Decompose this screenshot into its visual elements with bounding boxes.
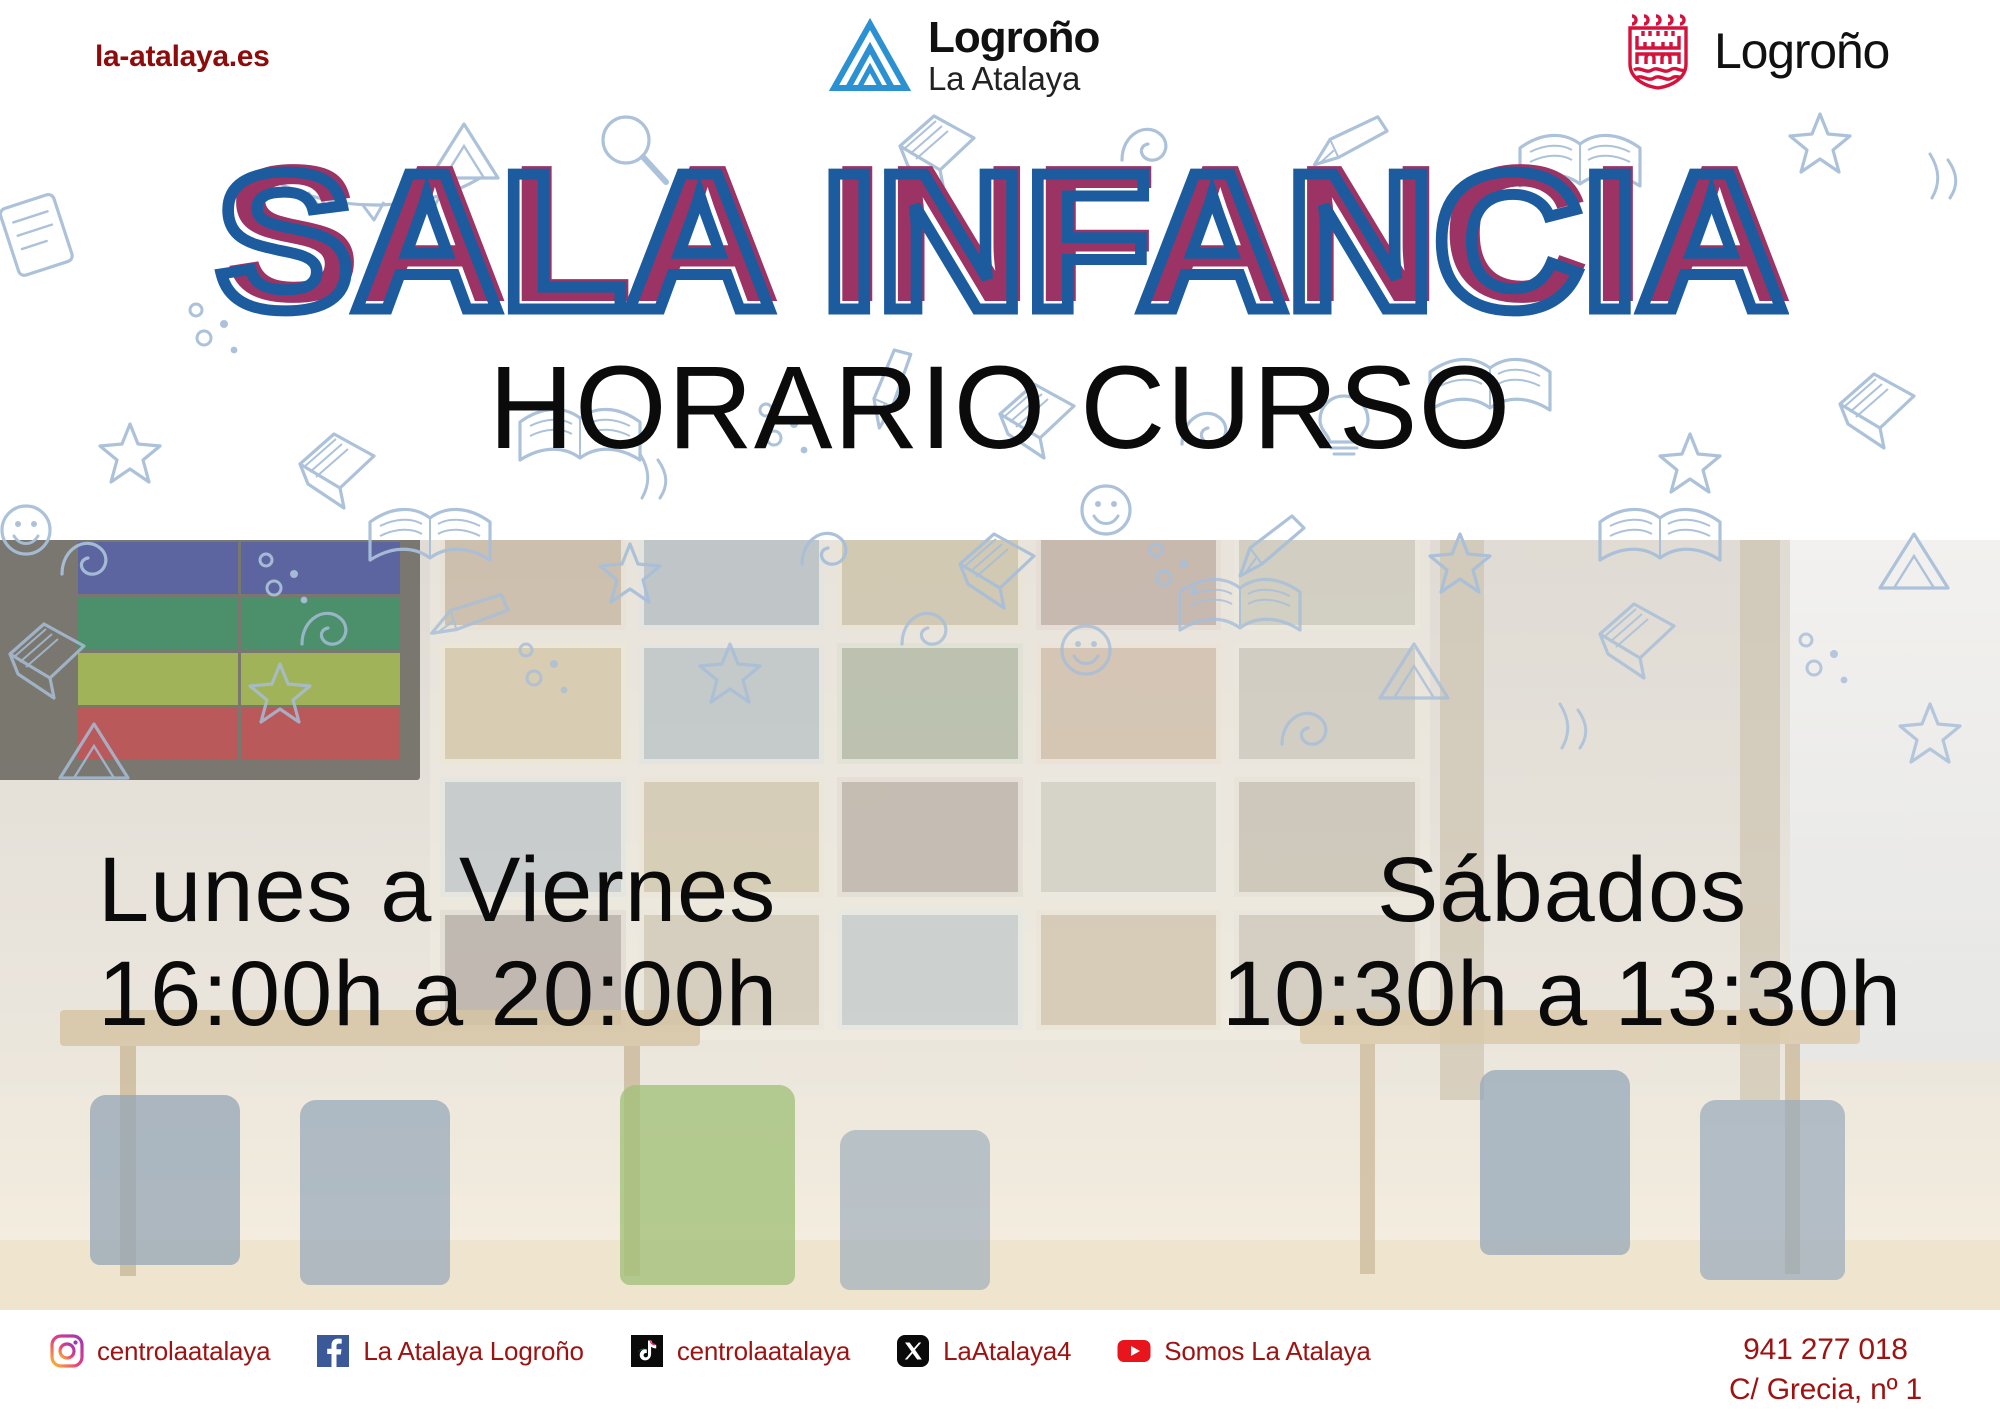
contact-phone[interactable]: 941 277 018 [1729, 1330, 1922, 1370]
shelf-cells [440, 540, 1420, 1030]
poster-root: SALA INFANCIA SALA INFANCIA HORARIO CURS… [0, 0, 2000, 1414]
chair [90, 1095, 240, 1265]
facebook-icon [316, 1334, 350, 1368]
city-logo-text: Logroño [1714, 22, 1889, 80]
chair [840, 1130, 990, 1290]
chair [1700, 1100, 1845, 1280]
footer-bar: centrolaatalaya La Atalaya Logroño centr… [0, 1310, 2000, 1414]
header-bar: la-atalaya.es Logroño La Atalaya [0, 0, 2000, 104]
social-facebook[interactable]: La Atalaya Logroño [316, 1334, 583, 1368]
social-x-handle: LaAtalaya4 [943, 1336, 1071, 1367]
social-facebook-handle: La Atalaya Logroño [363, 1336, 583, 1367]
table-left [60, 1010, 700, 1046]
mountain-triangle-icon [828, 18, 912, 92]
chair [300, 1100, 450, 1285]
wall-screen-content [78, 542, 400, 760]
contact-block: 941 277 018 C/ Grecia, nº 1 [1729, 1330, 1922, 1410]
atalaya-logo-words: Logroño La Atalaya [928, 14, 1099, 95]
library-photo-band [0, 540, 2000, 1310]
social-tiktok-handle: centrolaatalaya [677, 1336, 850, 1367]
youtube-icon [1117, 1334, 1151, 1368]
title-band-background [0, 104, 2000, 540]
atalaya-logo[interactable]: Logroño La Atalaya [828, 14, 1099, 95]
atalaya-logo-line1: Logroño [928, 16, 1099, 60]
table-right [1300, 1010, 1860, 1044]
x-twitter-icon [896, 1334, 930, 1368]
atalaya-logo-line2: La Atalaya [928, 62, 1099, 95]
chair [1480, 1070, 1630, 1255]
chair [620, 1085, 795, 1285]
website-url[interactable]: la-atalaya.es [95, 40, 270, 74]
social-tiktok[interactable]: centrolaatalaya [630, 1334, 850, 1368]
social-youtube[interactable]: Somos La Atalaya [1117, 1334, 1370, 1368]
contact-address: C/ Grecia, nº 1 [1729, 1370, 1922, 1410]
city-logo[interactable]: Logroño [1622, 12, 1889, 90]
social-instagram-handle: centrolaatalaya [97, 1336, 270, 1367]
library-scene [0, 540, 2000, 1310]
social-youtube-handle: Somos La Atalaya [1164, 1336, 1370, 1367]
window [1790, 540, 2000, 1060]
social-instagram[interactable]: centrolaatalaya [50, 1334, 270, 1368]
logrono-coat-of-arms-icon [1622, 12, 1694, 90]
tiktok-icon [630, 1334, 664, 1368]
social-links-row: centrolaatalaya La Atalaya Logroño centr… [50, 1334, 1417, 1368]
social-x-twitter[interactable]: LaAtalaya4 [896, 1334, 1071, 1368]
instagram-icon [50, 1334, 84, 1368]
